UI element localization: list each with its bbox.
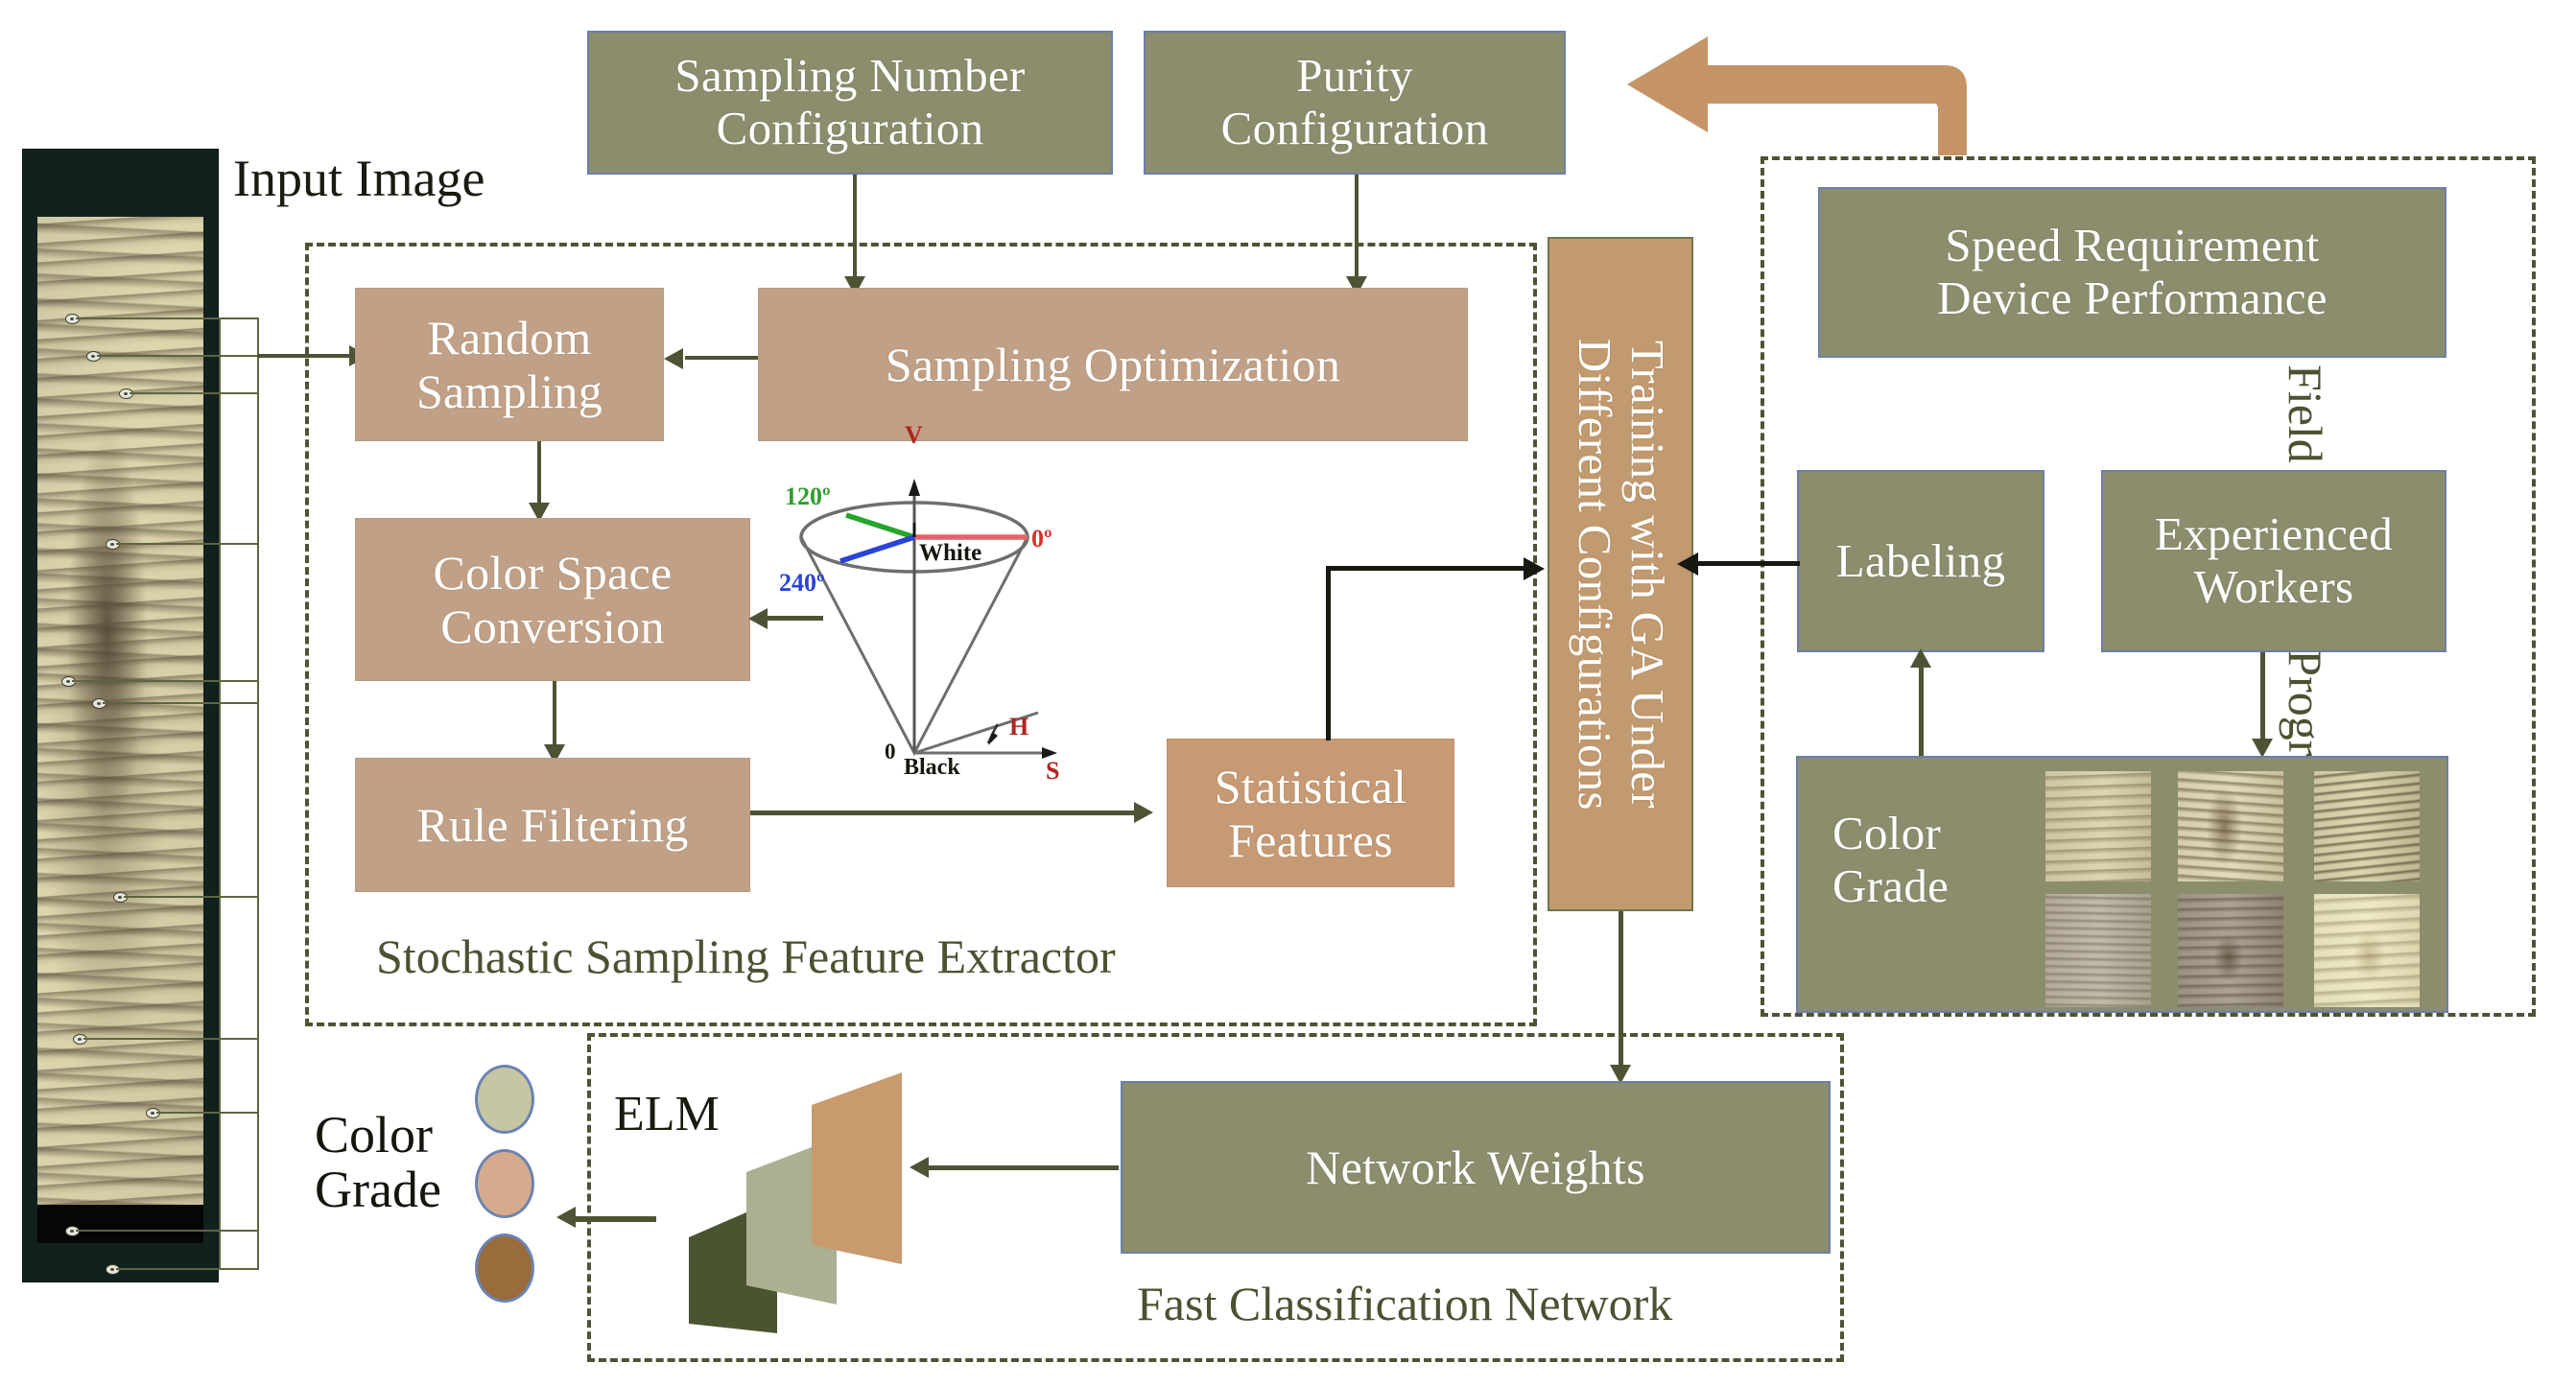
statistical-to-ga-vertical-line (1326, 566, 1331, 741)
sample-leader-line (124, 896, 258, 898)
hsv-white-label: White (919, 540, 981, 567)
output-color-grade-label: Color Grade (315, 1108, 441, 1216)
elm-layer-output (812, 1072, 902, 1264)
wood-sample-thumbnail (2178, 894, 2283, 1007)
statistical-features-line2: Features (1228, 813, 1393, 867)
output-color-grade-line2: Grade (315, 1163, 441, 1217)
random-sampling-line2: Sampling (416, 364, 603, 418)
experienced-workers-line1: Experienced (2155, 508, 2393, 561)
workers-to-colorgrade-arrowhead (2252, 739, 2273, 758)
workers-to-colorgrade-line (2260, 652, 2265, 746)
color-grade-samples-line1: Color (1832, 808, 1941, 860)
colorgrade-to-labeling-line (1919, 662, 1924, 758)
rule-filtering-label: Rule Filtering (416, 798, 688, 852)
random-sampling-line1: Random (427, 311, 591, 364)
feedback-loop-arrow (1593, 21, 1996, 155)
training-with-ga-box[interactable]: Training with GA Under Different Configu… (1548, 237, 1693, 911)
speed-requirement-line2: Device Performance (1937, 272, 2328, 325)
sampling-optimization-box[interactable]: Sampling Optimization (758, 288, 1468, 441)
wood-sample-thumbnail (2314, 771, 2420, 882)
diagram-canvas: Input Image Sampling Number Configuratio… (0, 0, 2576, 1387)
sampling-optimization-label: Sampling Optimization (886, 338, 1340, 391)
sampling-to-colorspace-line (537, 441, 541, 508)
network-weights-box[interactable]: Network Weights (1121, 1081, 1831, 1254)
sample-leader-line (76, 317, 258, 319)
hsv-axis-s-label: S (1046, 757, 1059, 786)
statistical-to-ga-horizontal-line (1326, 566, 1527, 571)
sampling-number-configuration-box[interactable]: Sampling Number Configuration (587, 31, 1113, 175)
sample-collector-rail (219, 317, 221, 1270)
training-with-ga-line2: Different Configurations (1568, 338, 1620, 810)
labeling-to-ga-arrowhead (1677, 552, 1698, 576)
sample-leader-line (76, 1230, 258, 1232)
hsv-color-cone-illustration: V 0º 120º 240º White 0 Black H S (758, 436, 1075, 772)
input-to-extractor-line (257, 354, 311, 358)
rulefilter-to-statistical-arrowhead (1134, 802, 1153, 823)
color-space-conversion-line2: Conversion (440, 599, 665, 653)
hsv-axis-h-label: H (1009, 713, 1028, 741)
color-grade-samples-line2: Grade (1832, 860, 1949, 913)
statistical-to-ga-arrowhead (1524, 557, 1545, 580)
statistical-features-line1: Statistical (1215, 760, 1407, 813)
rulefilter-to-statistical-line (750, 811, 1138, 815)
sample-leader-line (156, 1112, 258, 1114)
labeling-box[interactable]: Labeling (1797, 470, 2044, 652)
wood-board-bottom-strip (37, 1205, 203, 1243)
elm-to-grade-line (576, 1216, 656, 1222)
network-weights-label: Network Weights (1306, 1140, 1645, 1194)
grade-swatch-light[interactable] (475, 1065, 534, 1134)
hsv-hue-0-label: 0º (1031, 525, 1052, 553)
fast-classification-network-label: Fast Classification Network (1137, 1276, 1672, 1331)
color-grade-samples-box[interactable]: Color Grade (1796, 756, 2448, 1013)
labeling-label: Labeling (1836, 535, 2006, 588)
training-with-ga-line1: Training with GA Under (1620, 340, 1673, 808)
sample-leader-line (116, 543, 258, 545)
input-image-label: Input Image (233, 149, 484, 208)
speed-requirement-line1: Speed Requirement (1945, 220, 2319, 272)
hsv-black-label: Black (904, 755, 960, 781)
output-color-grade-line1: Color (315, 1108, 441, 1163)
sample-leader-line (97, 355, 258, 357)
color-space-conversion-box[interactable]: Color Space Conversion (355, 518, 750, 681)
sample-leader-line (103, 702, 258, 704)
purity-configuration-line2: Configuration (1221, 103, 1489, 155)
sample-leader-line (83, 1038, 258, 1040)
wood-sample-thumbnail (2314, 894, 2420, 1007)
optimization-to-sampling-line (685, 356, 758, 360)
hsv-hue-120-label: 120º (785, 482, 831, 511)
purity-configuration-box[interactable]: Purity Configuration (1144, 31, 1566, 175)
sampling-number-configuration-line2: Configuration (717, 103, 984, 155)
sample-collector-rail (257, 317, 259, 1270)
purity-configuration-line1: Purity (1296, 50, 1413, 103)
elm-to-grade-arrowhead (556, 1207, 576, 1228)
elm-network-layers (672, 1046, 959, 1352)
labeling-to-ga-line (1696, 561, 1800, 566)
colorgrade-to-labeling-arrowhead (1910, 648, 1931, 668)
experienced-workers-line2: Workers (2194, 561, 2354, 614)
wood-sample-thumbnail (2045, 894, 2151, 1007)
statistical-features-box[interactable]: Statistical Features (1167, 739, 1454, 887)
sampling-number-configuration-line1: Sampling Number (674, 50, 1025, 103)
experienced-workers-box[interactable]: Experienced Workers (2101, 470, 2446, 652)
hsv-hue-240-label: 240º (779, 569, 825, 598)
color-space-conversion-line1: Color Space (433, 546, 672, 599)
wood-board-texture (37, 217, 203, 1205)
hsv-origin-label: 0 (885, 740, 896, 764)
sample-leader-line (72, 680, 258, 682)
wood-sample-thumbnail (2178, 771, 2283, 882)
speed-requirement-box[interactable]: Speed Requirement Device Performance (1818, 187, 2446, 358)
optimization-to-sampling-arrowhead (664, 348, 683, 369)
grade-swatch-medium[interactable] (475, 1149, 534, 1218)
grade-swatch-dark[interactable] (475, 1234, 534, 1303)
colorspace-to-rulefilter-line (553, 681, 556, 750)
rule-filtering-box[interactable]: Rule Filtering (355, 758, 750, 892)
sample-leader-line (116, 1268, 258, 1270)
sample-leader-line (130, 392, 258, 394)
wood-sample-thumbnail (2045, 771, 2151, 882)
random-sampling-box[interactable]: Random Sampling (355, 288, 664, 441)
stochastic-sampling-feature-extractor-label: Stochastic Sampling Feature Extractor (376, 929, 1116, 984)
hsv-axis-v-label: V (905, 421, 923, 450)
